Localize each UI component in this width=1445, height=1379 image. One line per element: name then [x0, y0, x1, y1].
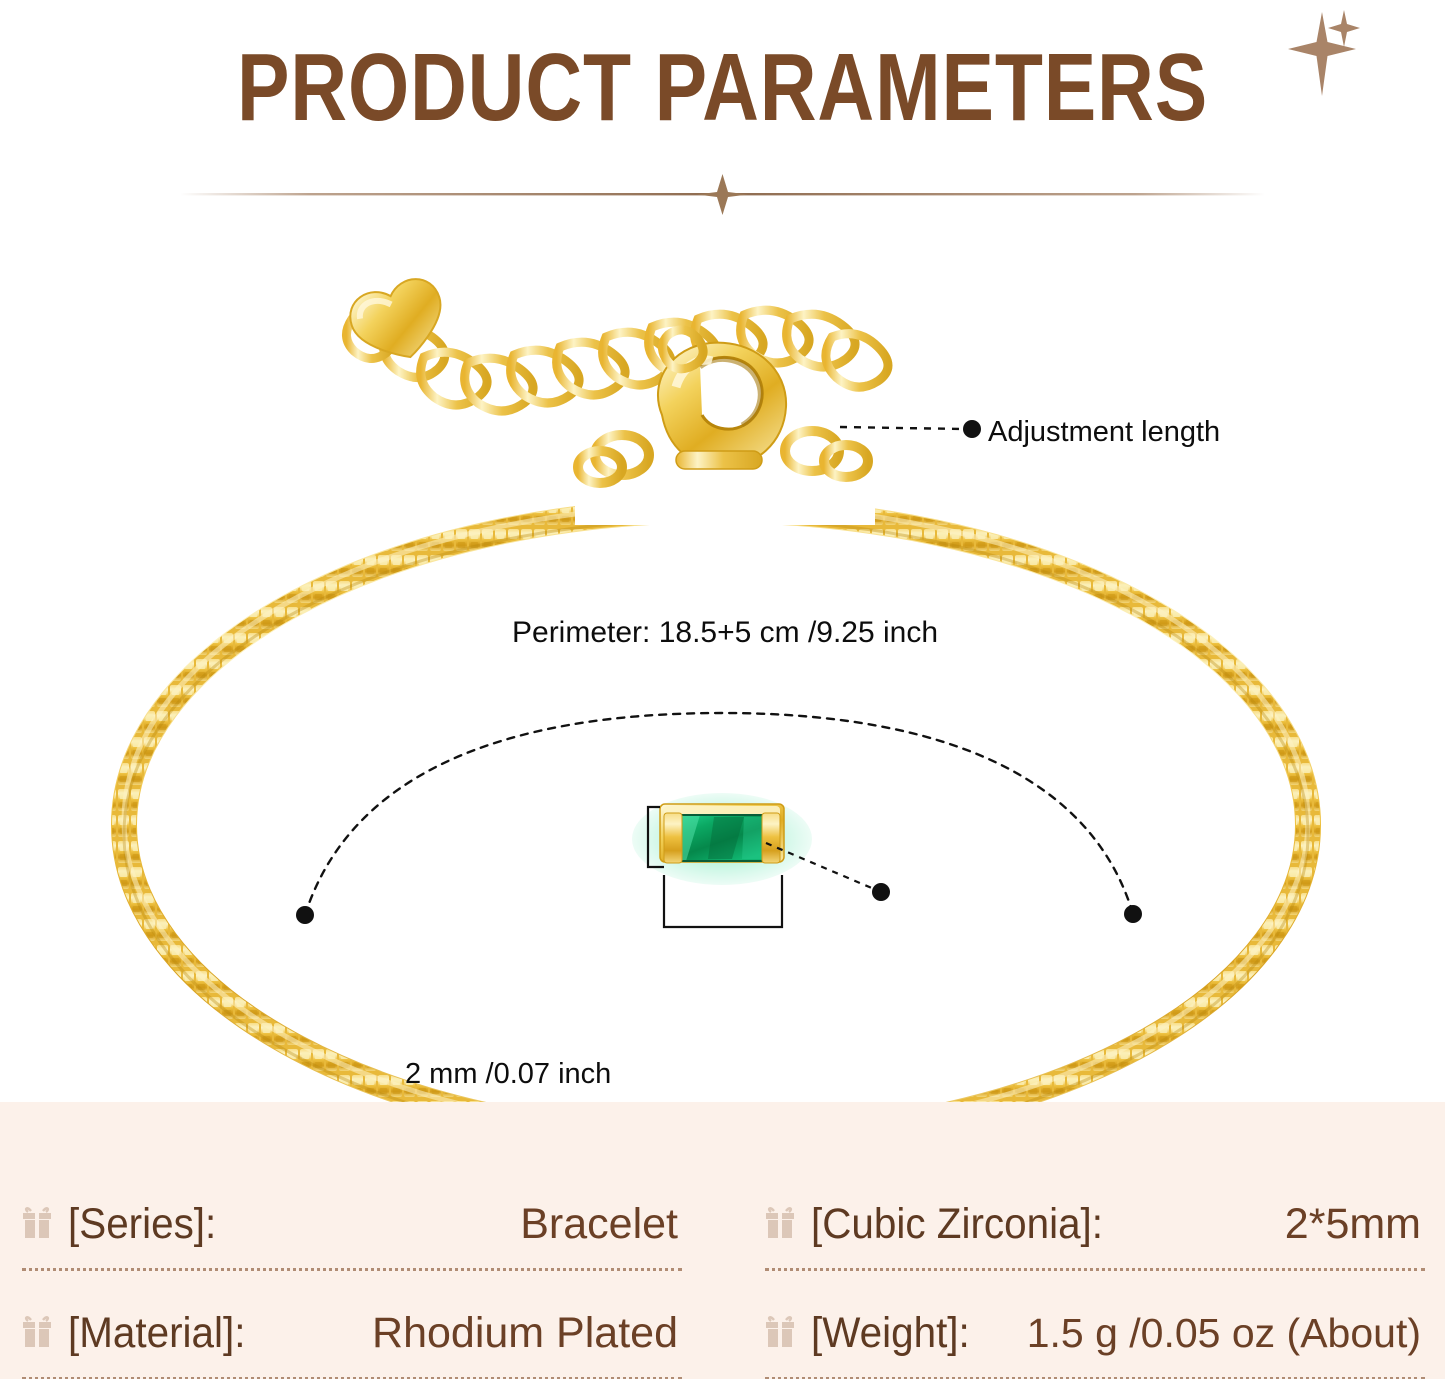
adjustment-leader-dot	[963, 420, 981, 438]
spec-key: [Weight]:	[811, 1309, 970, 1358]
spec-key: [Material]:	[68, 1309, 245, 1358]
spec-value: Rhodium Plated	[257, 1309, 682, 1358]
header-section: PRODUCT PARAMETERS	[0, 0, 1445, 215]
spec-key: [Series]:	[68, 1200, 216, 1249]
spec-row-material: [Material]: Rhodium Plated	[22, 1289, 682, 1379]
spec-row-cubic-zirconia: [Cubic Zirconia]: 2*5mm	[765, 1180, 1425, 1271]
spec-value: 2*5mm	[1122, 1200, 1425, 1249]
bracelet-drawing	[0, 215, 1445, 1102]
spec-value: Bracelet	[226, 1200, 682, 1249]
page-title: PRODUCT PARAMETERS	[130, 38, 1315, 139]
callout-perimeter: Perimeter: 18.5+5 cm /9.25 inch	[512, 618, 938, 648]
callout-adjustment-length: Adjustment length	[988, 418, 1220, 447]
specifications-panel: [Series]: Bracelet [Material]: Rhodium P…	[0, 1102, 1445, 1379]
product-illustration: Adjustment length Perimeter: 18.5+5 cm /…	[0, 215, 1445, 1102]
spec-row-series: [Series]: Bracelet	[22, 1180, 682, 1271]
spec-column-left: [Series]: Bracelet [Material]: Rhodium P…	[22, 1180, 682, 1379]
spec-value: 1.5 g /0.05 oz (About)	[980, 1310, 1425, 1357]
title-divider	[0, 172, 1445, 216]
spec-key: [Cubic Zirconia]:	[811, 1200, 1103, 1249]
adjustment-leader-line	[840, 427, 962, 429]
cz-leader-dot	[872, 883, 890, 901]
sparkle-star-small-icon	[1328, 10, 1360, 47]
lobster-clasp	[658, 330, 786, 469]
spec-column-right: [Cubic Zirconia]: 2*5mm [Weight]: 1.5 g …	[765, 1180, 1425, 1379]
gift-box-icon	[765, 1314, 795, 1348]
divider-diamond-icon	[697, 174, 748, 215]
spec-row-weight: [Weight]: 1.5 g /0.05 oz (About)	[765, 1289, 1425, 1379]
gift-box-icon	[22, 1205, 52, 1239]
perimeter-endpoint-right	[1124, 905, 1142, 923]
gem-prong-left	[664, 813, 682, 863]
gift-box-icon	[765, 1205, 795, 1239]
gift-box-icon	[22, 1314, 52, 1348]
perimeter-endpoint-left	[296, 906, 314, 924]
gem-prong-right	[762, 813, 780, 863]
product-parameters-infographic: PRODUCT PARAMETERS	[0, 0, 1445, 1379]
callout-gem-height: 2 mm /0.07 inch	[405, 1060, 611, 1089]
